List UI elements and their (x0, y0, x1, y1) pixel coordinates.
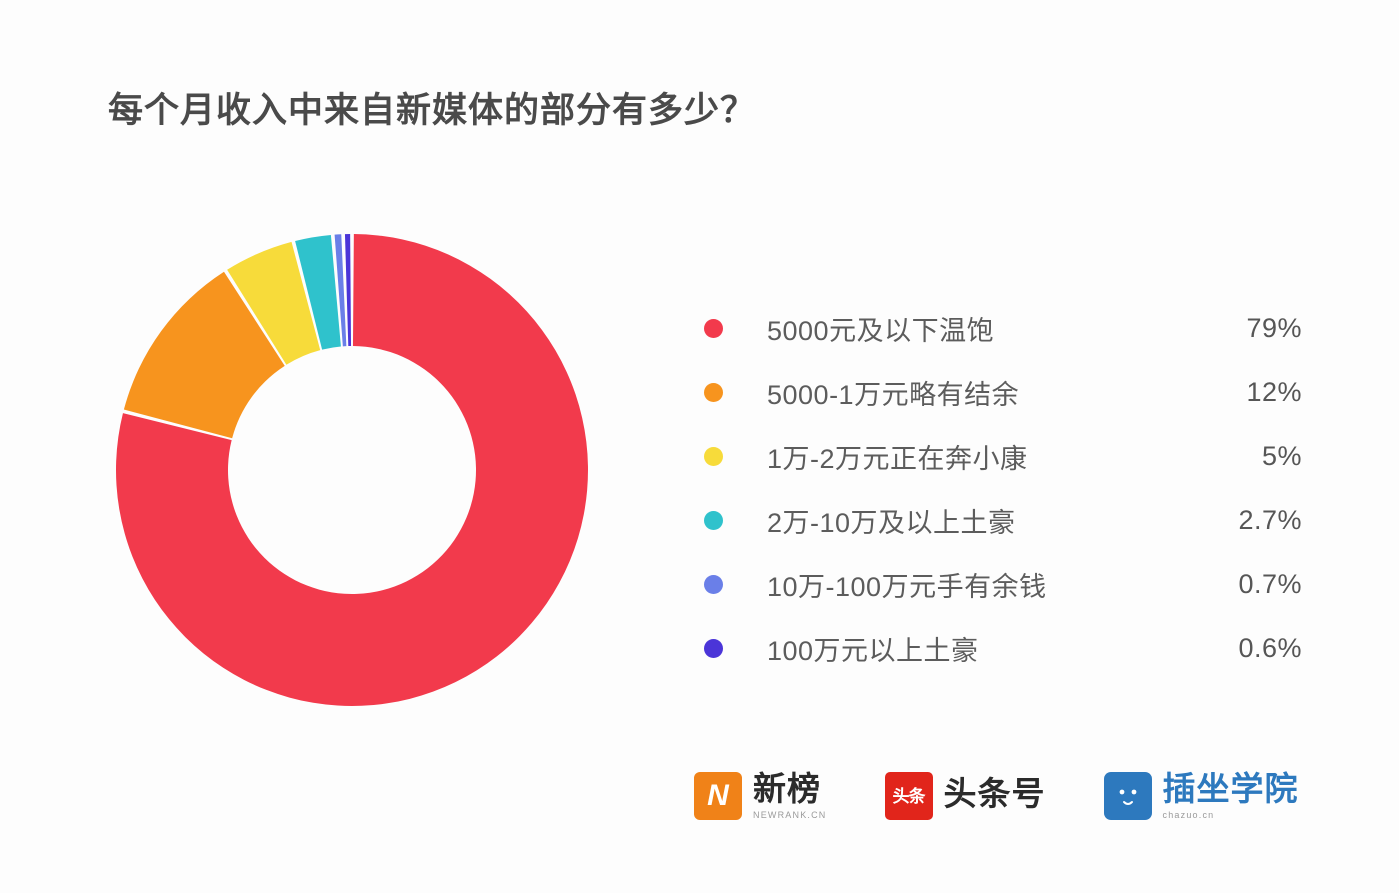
donut-chart-svg (113, 231, 591, 709)
legend-row[interactable]: 5000元及以下温饱79% (704, 296, 1302, 360)
legend-value: 79% (1194, 313, 1302, 344)
chart-legend: 5000元及以下温饱79%5000-1万元略有结余12%1万-2万元正在奔小康5… (704, 296, 1302, 680)
donut-slice[interactable] (345, 234, 351, 346)
legend-value: 0.7% (1194, 569, 1302, 600)
logo-newrank: N 新榜 NEWRANK.CN (694, 772, 827, 820)
legend-label: 1万-2万元正在奔小康 (767, 437, 1194, 476)
legend-label: 100万元以上土豪 (767, 629, 1194, 668)
chazuo-mark-icon (1104, 772, 1152, 820)
logo-toutiaohao: 头条 头条号 (885, 772, 1046, 820)
legend-label: 2万-10万及以上土豪 (767, 501, 1194, 540)
toutiaohao-name: 头条号 (944, 777, 1046, 812)
legend-row[interactable]: 1万-2万元正在奔小康5% (704, 424, 1302, 488)
legend-color-swatch-icon (704, 639, 723, 658)
newrank-domain: NEWRANK.CN (753, 810, 827, 820)
footer-logos: N 新榜 NEWRANK.CN 头条 头条号 插坐学院 chazuo.cn (694, 772, 1299, 820)
legend-row[interactable]: 10万-100万元手有余钱0.7% (704, 552, 1302, 616)
legend-color-swatch-icon (704, 383, 723, 402)
legend-color-swatch-icon (704, 511, 723, 530)
donut-slices (116, 234, 588, 706)
newrank-mark-glyph: N (707, 781, 729, 811)
newrank-mark-icon: N (694, 772, 742, 820)
toutiaohao-text: 头条号 (944, 777, 1046, 815)
legend-color-swatch-icon (704, 575, 723, 594)
legend-color-swatch-icon (704, 447, 723, 466)
chazuo-name: 插坐学院 (1163, 772, 1299, 807)
donut-chart (113, 231, 591, 709)
legend-value: 12% (1194, 377, 1302, 408)
legend-label: 5000元及以下温饱 (767, 309, 1194, 348)
chazuo-face-icon (1115, 781, 1141, 811)
page-title: 每个月收入中来自新媒体的部分有多少？ (108, 82, 756, 133)
logo-chazuo: 插坐学院 chazuo.cn (1104, 772, 1299, 820)
legend-label: 10万-100万元手有余钱 (767, 565, 1194, 604)
newrank-name: 新榜 (753, 772, 827, 807)
legend-row[interactable]: 100万元以上土豪0.6% (704, 616, 1302, 680)
legend-value: 2.7% (1194, 505, 1302, 536)
chazuo-text: 插坐学院 chazuo.cn (1163, 772, 1299, 820)
legend-row[interactable]: 2万-10万及以上土豪2.7% (704, 488, 1302, 552)
toutiao-mark-glyph: 头条 (893, 788, 925, 805)
legend-row[interactable]: 5000-1万元略有结余12% (704, 360, 1302, 424)
legend-value: 0.6% (1194, 633, 1302, 664)
newrank-text: 新榜 NEWRANK.CN (753, 772, 827, 820)
toutiao-mark-icon: 头条 (885, 772, 933, 820)
legend-color-swatch-icon (704, 319, 723, 338)
chazuo-domain: chazuo.cn (1163, 810, 1299, 820)
legend-value: 5% (1194, 441, 1302, 472)
legend-label: 5000-1万元略有结余 (767, 373, 1194, 412)
